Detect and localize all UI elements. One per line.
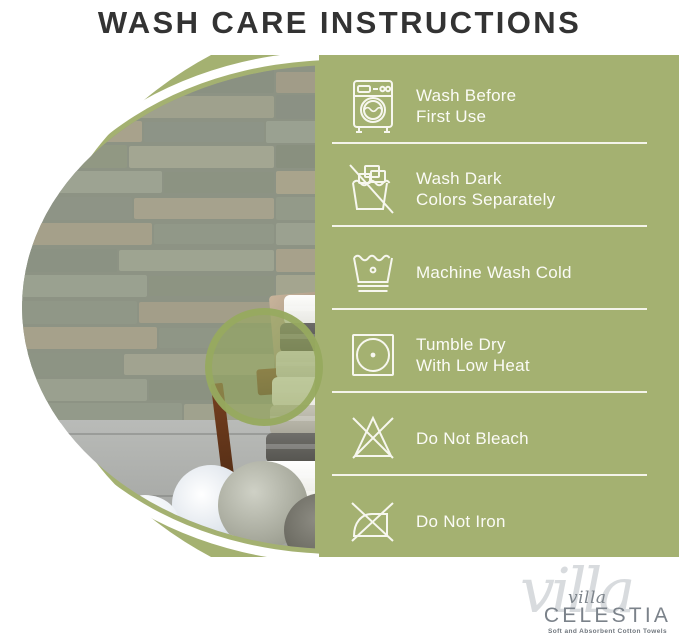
instruction-label-line1: Do Not Iron <box>416 511 506 532</box>
instructions-list: Wash Before First Use <box>330 55 679 557</box>
tumble-dry-low-icon <box>330 320 416 390</box>
washing-machine-icon <box>330 71 416 141</box>
instruction-label: Machine Wash Cold <box>416 262 572 283</box>
instruction-row: Do Not Iron <box>330 480 679 557</box>
logo-brand-name: CELESTIA <box>540 604 675 628</box>
instruction-label: Tumble Dry With Low Heat <box>416 334 530 376</box>
instruction-row: Wash Before First Use <box>330 65 679 147</box>
instruction-label-line1: Wash Dark <box>416 168 555 189</box>
machine-wash-cold-icon <box>330 237 416 307</box>
do-not-iron-icon <box>330 486 416 556</box>
brand-logo: villa villa CELESTIA Soft and Absorbent … <box>520 560 679 642</box>
green-panel: Wash Before First Use <box>0 55 679 557</box>
page-title: WASH CARE INSTRUCTIONS <box>0 0 679 45</box>
instruction-row: Machine Wash Cold <box>330 231 679 313</box>
instruction-label-line1: Tumble Dry <box>416 334 530 355</box>
wash-care-infographic: WASH CARE INSTRUCTIONS <box>0 0 679 642</box>
logo-tagline: Soft and Absorbent Cotton Towels <box>540 628 675 635</box>
row-divider <box>332 391 647 393</box>
instruction-label-line1: Do Not Bleach <box>416 428 529 449</box>
instruction-label-line2: First Use <box>416 106 516 127</box>
row-divider <box>332 474 647 476</box>
row-divider <box>332 142 647 144</box>
instruction-label: Wash Before First Use <box>416 85 516 127</box>
instruction-label-line1: Machine Wash Cold <box>416 262 572 283</box>
instruction-row: Tumble Dry With Low Heat <box>330 314 679 396</box>
wash-separately-icon <box>330 154 416 224</box>
instruction-label-line2: With Low Heat <box>416 355 530 376</box>
row-divider <box>332 308 647 310</box>
instruction-label-line1: Wash Before <box>416 85 516 106</box>
instruction-row: Wash Dark Colors Separately <box>330 148 679 230</box>
row-divider <box>332 225 647 227</box>
instruction-label-line2: Colors Separately <box>416 189 555 210</box>
instruction-row: Do Not Bleach <box>330 397 679 479</box>
instruction-label: Do Not Iron <box>416 511 506 532</box>
green-circle-accent <box>205 308 323 426</box>
instruction-label: Do Not Bleach <box>416 428 529 449</box>
do-not-bleach-icon <box>330 403 416 473</box>
instruction-label: Wash Dark Colors Separately <box>416 168 555 210</box>
